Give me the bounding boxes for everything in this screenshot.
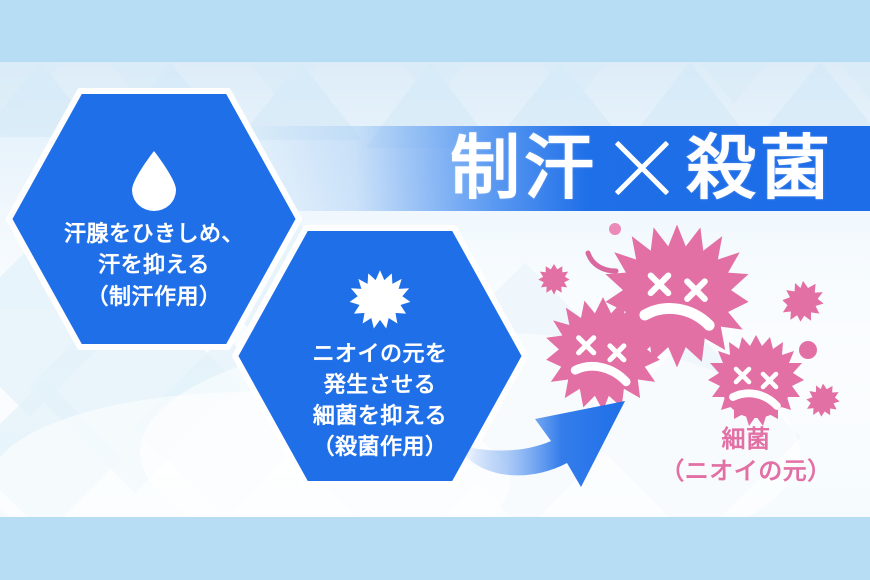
- infographic-canvas: 制汗 殺菌 汗腺をひきしめ、 汗を抑える （制汗作用）: [0, 0, 870, 580]
- cross-multiply-icon: [614, 140, 670, 196]
- page-title: 制汗 殺菌: [243, 118, 870, 218]
- germ-small-right: [706, 333, 806, 433]
- germ-star-small-upper-right: [782, 280, 824, 322]
- germ-star-small-left: [538, 263, 570, 295]
- bottom-color-band: [0, 517, 870, 580]
- title-left-text: 制汗: [450, 133, 598, 203]
- germ-star-bottom-right: [806, 383, 840, 417]
- germ-caption: 細菌 （ニオイの元）: [632, 424, 860, 488]
- top-color-band: [0, 0, 870, 62]
- title-right-text: 殺菌: [686, 133, 834, 203]
